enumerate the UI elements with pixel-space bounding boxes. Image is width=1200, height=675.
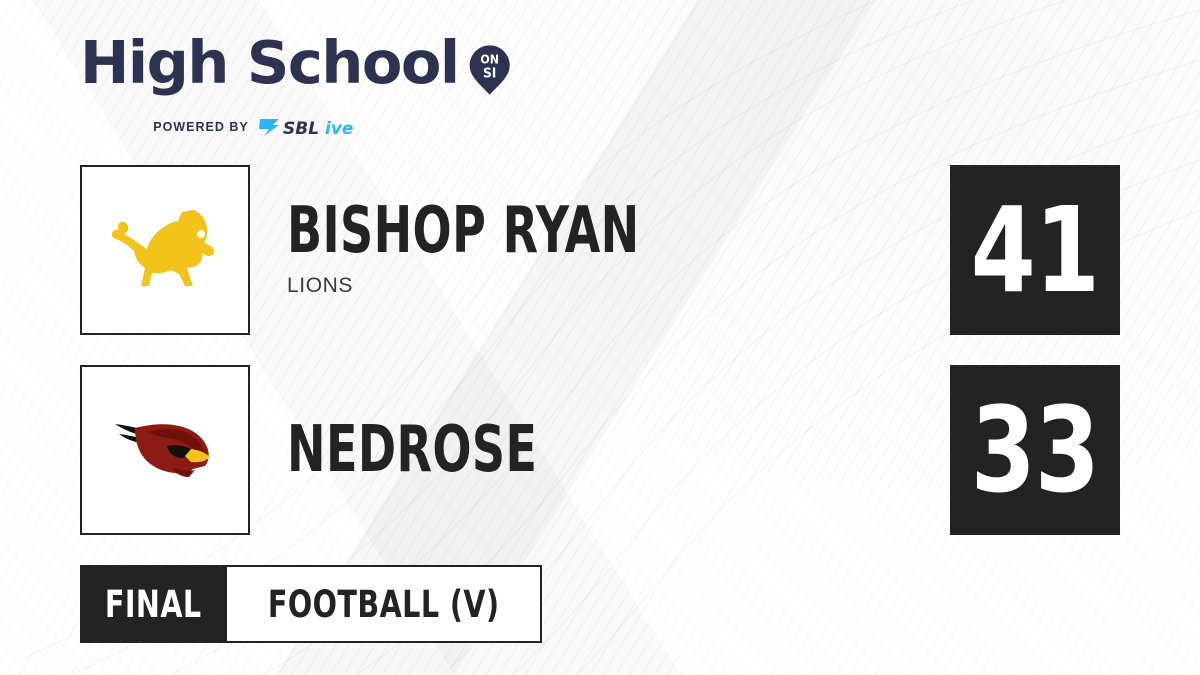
powered-by-row: POWERED BY SBL ive bbox=[80, 116, 510, 138]
powered-by-label: POWERED BY bbox=[153, 120, 248, 134]
sblive-bolt-icon bbox=[259, 119, 279, 136]
sblive-logo: SBL ive bbox=[257, 116, 379, 138]
team-score: 41 bbox=[971, 191, 1099, 309]
team-score: 33 bbox=[971, 391, 1099, 509]
status-bar: FINAL FOOTBALL (V) bbox=[80, 565, 542, 643]
cardinal-logo-icon bbox=[105, 390, 225, 510]
sport-label: FOOTBALL (V) bbox=[268, 583, 500, 626]
sblive-name-dark: SBL bbox=[283, 119, 319, 138]
lion-logo-icon bbox=[105, 190, 225, 310]
team-mascot: LIONS bbox=[287, 274, 728, 298]
pin-label-on: ON bbox=[480, 52, 499, 67]
brand-header: High School ON SI POWERED BY SBL ive bbox=[80, 33, 510, 137]
team-info: BISHOP RYAN LIONS bbox=[287, 165, 728, 335]
team-score-box: 33 bbox=[950, 365, 1120, 535]
scoreboard-graphic: High School ON SI POWERED BY SBL ive bbox=[0, 0, 1200, 675]
on-si-pin-icon: ON SI bbox=[469, 31, 510, 109]
sport-label-container: FOOTBALL (V) bbox=[227, 565, 542, 643]
status-state-label: FINAL bbox=[105, 583, 202, 626]
team-name: NEDROSE bbox=[287, 421, 537, 480]
brand-wordmark-row: High School ON SI bbox=[80, 33, 510, 109]
team-score-box: 41 bbox=[950, 165, 1120, 335]
status-badge: FINAL bbox=[80, 565, 227, 643]
team-info: NEDROSE bbox=[287, 365, 600, 535]
team-logo-box bbox=[80, 365, 250, 535]
page-title: High School bbox=[80, 33, 459, 92]
sblive-name-accent: ive bbox=[325, 119, 353, 138]
team-logo-box bbox=[80, 165, 250, 335]
team-name: BISHOP RYAN bbox=[287, 202, 640, 261]
pin-label-si: SI bbox=[483, 66, 496, 82]
